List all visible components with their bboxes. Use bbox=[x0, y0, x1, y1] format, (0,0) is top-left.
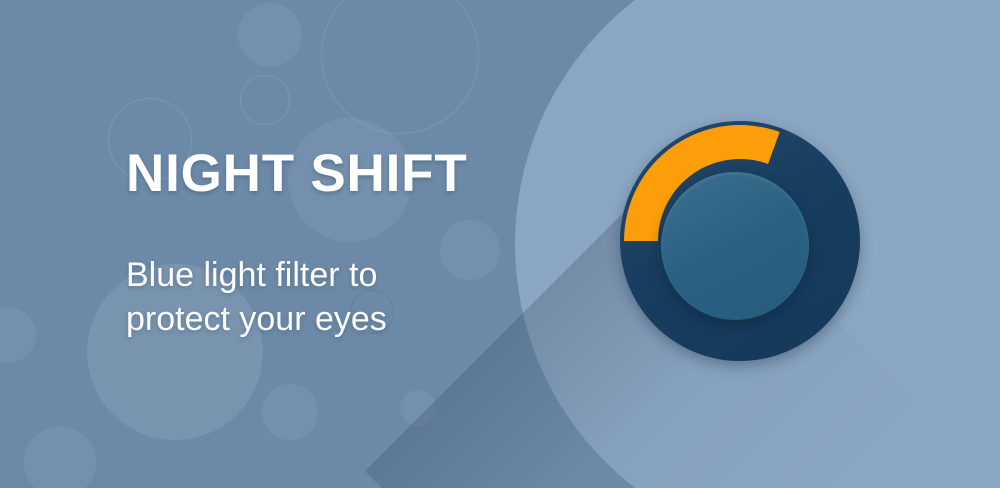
decorative-bubble bbox=[400, 390, 436, 426]
decorative-bubble bbox=[321, 0, 479, 134]
decorative-bubble bbox=[240, 75, 290, 125]
page-title: NIGHT SHIFT bbox=[126, 146, 526, 201]
subtitle-line-1: Blue light filter to bbox=[126, 253, 526, 297]
decorative-bubble bbox=[238, 3, 302, 67]
subtitle-line-2: protect your eyes bbox=[126, 297, 526, 341]
decorative-bubble bbox=[262, 384, 318, 440]
text-block: NIGHT SHIFT Blue light filter to protect… bbox=[126, 146, 526, 341]
night-shift-dial[interactable] bbox=[620, 121, 862, 363]
page-subtitle: Blue light filter to protect your eyes bbox=[126, 253, 526, 341]
decorative-bubble bbox=[0, 307, 36, 363]
dial-inner-cap[interactable] bbox=[661, 172, 809, 320]
decorative-bubble bbox=[24, 426, 96, 488]
night-shift-banner: NIGHT SHIFT Blue light filter to protect… bbox=[0, 0, 1000, 488]
